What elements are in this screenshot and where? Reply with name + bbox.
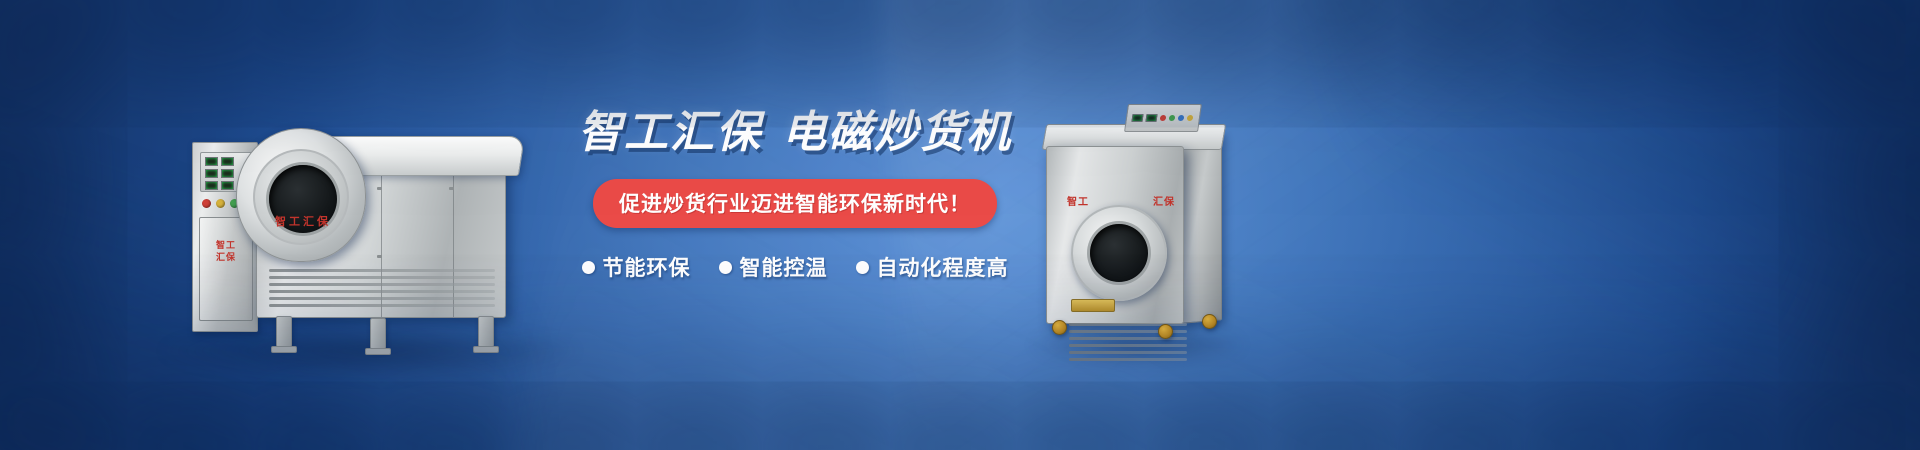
right-machine-body: 智工 汇保	[1046, 146, 1184, 324]
right-machine-drum	[1071, 205, 1167, 301]
left-machine-cabinet-logo-line2: 汇保	[203, 251, 249, 263]
vent-slot	[269, 269, 495, 272]
product-image-left-machine: 智工 汇保 智工汇保	[170, 96, 570, 356]
feature-item: 节能环保	[582, 252, 691, 282]
button-icon	[1169, 115, 1176, 121]
machine-leg	[276, 316, 292, 348]
left-machine-brand-logo: 智工汇保	[245, 213, 361, 229]
left-machine-drum: 智工汇保	[236, 128, 366, 262]
caster-wheel-icon	[1158, 324, 1173, 339]
vent-slot	[1069, 351, 1187, 354]
vent-slot	[269, 290, 495, 293]
machine-leg	[478, 316, 494, 348]
led-display-icon	[221, 157, 234, 166]
hinge-icon	[377, 187, 382, 190]
machine-foot	[473, 346, 499, 353]
led-display-icon	[1131, 114, 1143, 122]
right-machine-logo-left: 智工	[1067, 193, 1089, 208]
banner-copy-block: 智工汇保电磁炒货机 促进炒货行业迈进智能环保新时代！ 节能环保 智能控温 自动化…	[555, 108, 1035, 282]
vent-slot	[1069, 344, 1187, 347]
product-image-right-machine: 智工 汇保	[1030, 98, 1240, 358]
headline-product: 电磁炒货机	[782, 108, 1012, 157]
right-machine-side-panel	[1182, 130, 1222, 323]
led-display-icon	[205, 169, 218, 178]
banner-feature-list: 节能环保 智能控温 自动化程度高	[582, 252, 1009, 282]
bullet-dot-icon	[856, 261, 869, 274]
machine-foot	[271, 346, 297, 353]
vent-slot	[269, 304, 495, 307]
feature-label: 节能环保	[603, 252, 691, 282]
machine-leg	[370, 318, 386, 350]
led-display-icon	[221, 169, 234, 178]
machine-foot	[365, 348, 391, 355]
left-machine-cabinet-logo-line1: 智工	[203, 239, 249, 251]
background-shade-right	[1311, 0, 1920, 450]
feature-label: 智能控温	[740, 252, 828, 282]
led-display-icon	[1145, 114, 1157, 122]
led-display-icon	[205, 181, 218, 190]
right-machine-drum-opening	[1090, 224, 1148, 282]
led-display-icon	[221, 181, 234, 190]
bullet-dot-icon	[719, 261, 732, 274]
banner-headline: 智工汇保电磁炒货机	[578, 108, 1012, 157]
hinge-icon	[377, 255, 382, 258]
right-machine-logo-right: 汇保	[1153, 193, 1175, 208]
knob-icon	[216, 199, 225, 208]
led-display-icon	[205, 157, 218, 166]
caster-wheel-icon	[1202, 314, 1217, 329]
button-icon	[1160, 115, 1167, 121]
feature-item: 自动化程度高	[856, 252, 1009, 282]
vent-slot	[269, 283, 495, 286]
right-machine-nameplate	[1071, 299, 1115, 312]
vent-slot	[269, 276, 495, 279]
feature-item: 智能控温	[719, 252, 828, 282]
bullet-dot-icon	[582, 261, 595, 274]
vent-slot	[269, 297, 495, 300]
promo-banner: 智工 汇保 智工汇保	[0, 0, 1920, 450]
button-icon	[1178, 115, 1185, 121]
button-icon	[1187, 115, 1194, 121]
left-machine-drum-ring	[253, 149, 349, 245]
headline-brand: 智工汇保	[578, 108, 762, 157]
left-machine-cabinet-door	[199, 217, 253, 321]
knob-icon	[202, 199, 211, 208]
right-machine-control-panel	[1124, 104, 1202, 132]
hinge-icon	[449, 187, 454, 190]
vent-slot	[1069, 358, 1187, 361]
left-machine-vent-grill	[269, 261, 495, 307]
banner-slogan-badge: 促进炒货行业迈进智能环保新时代！	[593, 179, 997, 228]
feature-label: 自动化程度高	[877, 252, 1009, 282]
caster-wheel-icon	[1052, 320, 1067, 335]
